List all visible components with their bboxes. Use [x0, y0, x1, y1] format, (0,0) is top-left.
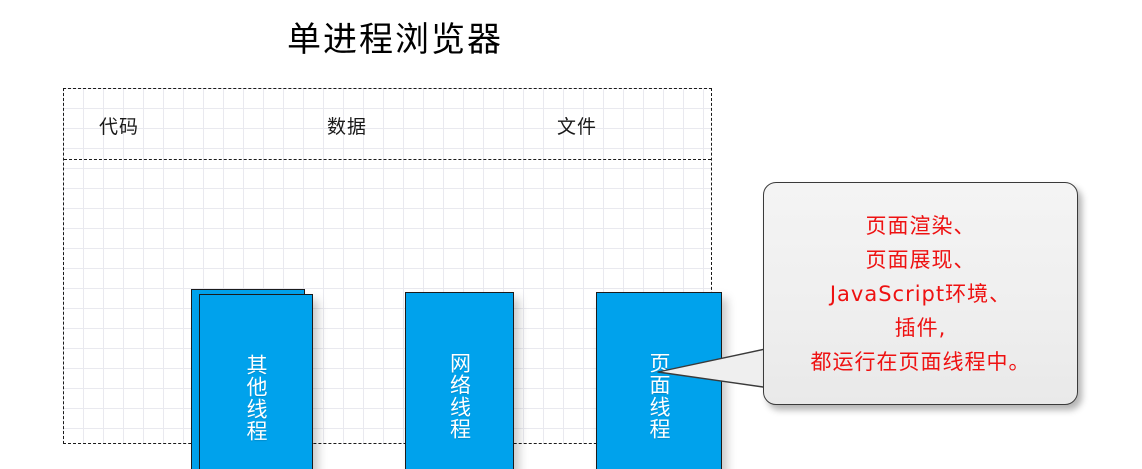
- callout-bubble: 页面渲染、 页面展现、 JavaScript环境、 插件, 都运行在页面线程中。: [763, 182, 1078, 405]
- thread-box-other[interactable]: 其他线程: [199, 294, 313, 469]
- header-label-code: 代码: [99, 114, 139, 140]
- header-label-file: 文件: [557, 114, 597, 140]
- callout-line-4: 插件,: [895, 311, 947, 345]
- header-label-data: 数据: [327, 114, 367, 140]
- page-title: 单进程浏览器: [0, 18, 790, 62]
- callout-line-2: 页面展现、: [866, 243, 976, 277]
- resource-header-row: 代码 数据 文件: [64, 89, 711, 160]
- thread-box-network-label: 网络线程: [406, 293, 513, 469]
- callout-line-1: 页面渲染、: [866, 209, 976, 243]
- callout-line-3: JavaScript环境、: [830, 277, 1011, 311]
- thread-box-other-label: 其他线程: [200, 295, 312, 469]
- diagram-canvas: 单进程浏览器 代码 数据 文件 其他线程 网络线程 页面线程 页面渲染、 页面展…: [0, 0, 1142, 469]
- single-process-container: 代码 数据 文件 其他线程 网络线程 页面线程: [63, 88, 712, 444]
- callout-line-5: 都运行在页面线程中。: [811, 345, 1031, 379]
- thread-box-network[interactable]: 网络线程: [405, 292, 514, 469]
